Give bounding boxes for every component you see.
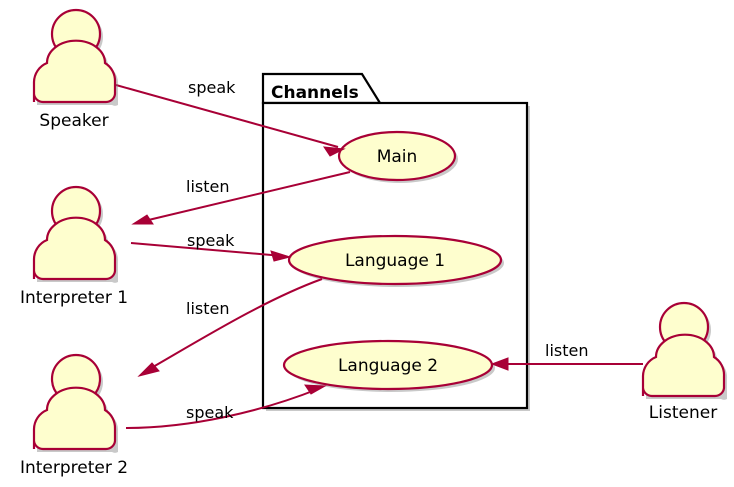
edge-label-listen-3: listen [545,341,588,360]
actor-listener[interactable]: Listener [643,303,727,423]
actor-interpreter2-label: Interpreter 2 [20,458,128,478]
edge-label-listen-2: listen [186,299,229,318]
actor-listener-body[interactable] [643,335,724,396]
usecase-main-label: Main [377,147,418,167]
diagram-canvas: Channels Main Language 1 Language 2 spea… [0,0,734,487]
actor-listener-label: Listener [649,403,717,423]
usecase-language2-label: Language 2 [338,356,438,376]
actor-speaker-label: Speaker [39,111,108,131]
edge-main-listen-interpreter1-arrowhead [133,215,153,224]
actor-interpreter2-body[interactable] [34,388,115,449]
actor-interpreter2[interactable]: Interpreter 2 [20,355,128,478]
edge-label-speak-3: speak [186,403,234,422]
usecase-language1-label: Language 1 [345,251,445,271]
use-case-diagram: Channels Main Language 1 Language 2 spea… [0,0,734,487]
usecase-language2[interactable]: Language 2 [284,341,495,392]
package-title: Channels [271,83,359,103]
actor-speaker-body[interactable] [34,41,115,102]
actor-interpreter1-body[interactable] [34,218,115,279]
edge-label-speak-2: speak [187,231,235,250]
actor-interpreter1-label: Interpreter 1 [20,288,128,308]
actor-speaker[interactable]: Speaker [34,10,118,131]
edge-label-listen-1: listen [186,177,229,196]
edge-label-speak-1: speak [188,78,236,97]
actor-interpreter1[interactable]: Interpreter 1 [20,187,128,308]
